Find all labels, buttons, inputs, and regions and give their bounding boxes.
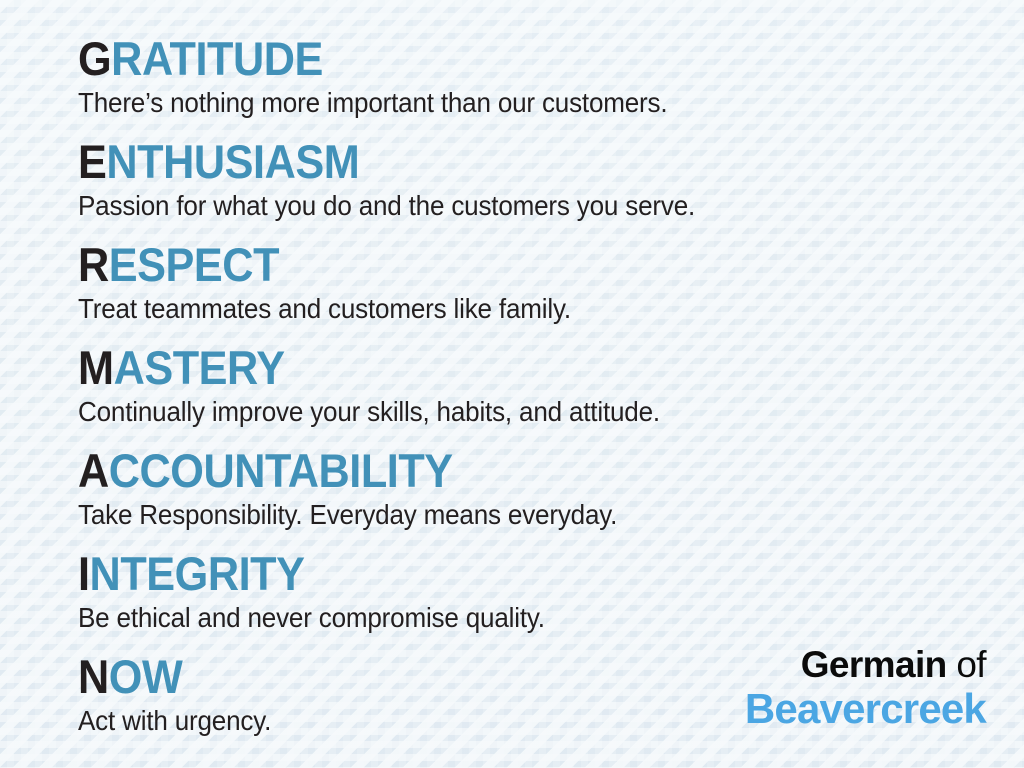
value-heading-integrity: INTEGRITY xyxy=(78,549,924,599)
value-initial-letter: M xyxy=(78,341,114,394)
value-heading-remainder: OW xyxy=(109,650,183,703)
value-heading-mastery: MASTERY xyxy=(78,343,924,393)
brand-logo: Germain of Beavercreek xyxy=(745,644,986,732)
value-heading-remainder: RATITUDE xyxy=(111,32,323,85)
value-description-integrity: Be ethical and never compromise quality. xyxy=(78,601,934,635)
value-block-gratitude: GRATITUDE There’s nothing more important… xyxy=(78,34,998,120)
value-initial-letter: I xyxy=(78,547,90,600)
value-heading-remainder: CCOUNTABILITY xyxy=(109,444,453,497)
value-heading-accountability: ACCOUNTABILITY xyxy=(78,446,924,496)
value-block-integrity: INTEGRITY Be ethical and never compromis… xyxy=(78,549,998,635)
value-heading-gratitude: GRATITUDE xyxy=(78,34,924,84)
value-description-accountability: Take Responsibility. Everyday means ever… xyxy=(78,498,934,532)
value-initial-letter: N xyxy=(78,650,109,703)
values-slide: GRATITUDE There’s nothing more important… xyxy=(0,0,1024,768)
value-heading-remainder: ESPECT xyxy=(109,238,279,291)
value-description-enthusiasm: Passion for what you do and the customer… xyxy=(78,189,934,223)
value-heading-remainder: NTHUSIASM xyxy=(106,135,359,188)
value-block-enthusiasm: ENTHUSIASM Passion for what you do and t… xyxy=(78,137,998,223)
value-block-accountability: ACCOUNTABILITY Take Responsibility. Ever… xyxy=(78,446,998,532)
value-block-respect: RESPECT Treat teammates and customers li… xyxy=(78,240,998,326)
value-initial-letter: E xyxy=(78,135,106,188)
value-heading-respect: RESPECT xyxy=(78,240,924,290)
value-initial-letter: R xyxy=(78,238,109,291)
value-heading-remainder: NTEGRITY xyxy=(90,547,305,600)
logo-dealer-name: Germain xyxy=(801,644,947,685)
value-description-mastery: Continually improve your skills, habits,… xyxy=(78,395,934,429)
value-heading-remainder: ASTERY xyxy=(114,341,285,394)
logo-connector: of xyxy=(956,644,986,685)
value-description-respect: Treat teammates and customers like famil… xyxy=(78,292,934,326)
value-block-mastery: MASTERY Continually improve your skills,… xyxy=(78,343,998,429)
value-heading-enthusiasm: ENTHUSIASM xyxy=(78,137,924,187)
value-description-gratitude: There’s nothing more important than our … xyxy=(78,86,934,120)
logo-line-primary: Germain of xyxy=(745,644,986,686)
value-initial-letter: G xyxy=(78,32,111,85)
logo-location: Beavercreek xyxy=(745,686,986,732)
value-initial-letter: A xyxy=(78,444,109,497)
